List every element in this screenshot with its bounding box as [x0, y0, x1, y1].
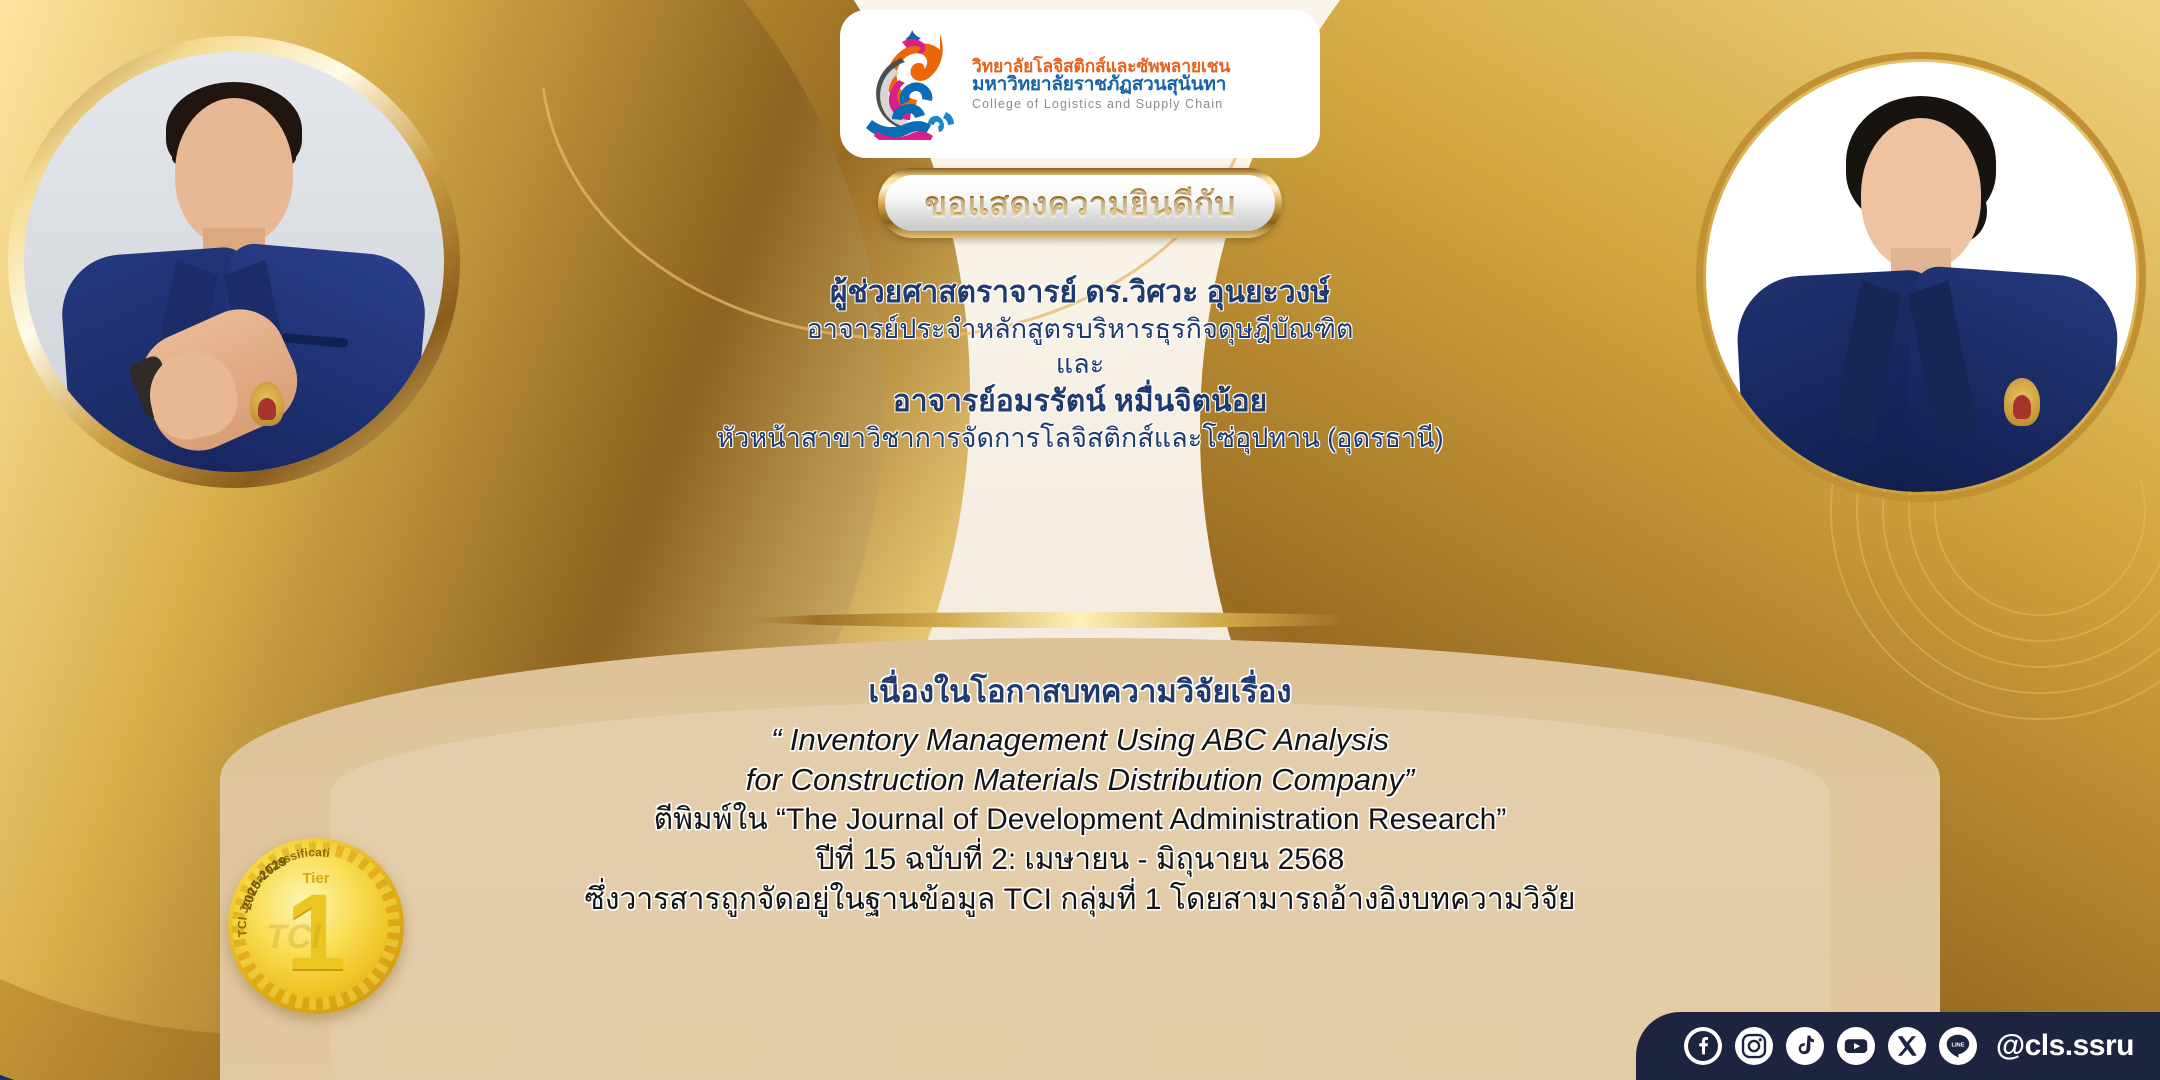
journal-index-line: ซึ่งวารสารถูกจัดอยู่ในฐานข้อมูล TCI กลุ่…: [330, 880, 1830, 920]
honoree-1-title: อาจารย์ประจำหลักสูตรบริหารธุรกิจดุษฎีบัณ…: [540, 312, 1620, 347]
social-handle: @cls.ssru: [1996, 1029, 2134, 1063]
logo-thai-line-1: วิทยาลัยโลจิสติกส์และซัพพลายเชน: [972, 57, 1230, 76]
publication-occasion: เนื่องในโอกาสบทความวิจัยเรื่อง: [330, 672, 1830, 712]
honoree-2-name: อาจารย์อมรรัตน์ หมื่นจิตน้อย: [540, 383, 1620, 421]
line-icon[interactable]: LINE: [1939, 1027, 1977, 1065]
honorees-conjunction: และ: [540, 347, 1620, 382]
ssru-logo-icon: [854, 28, 962, 140]
gold-divider: [750, 612, 1410, 628]
honoree-1-name: ผู้ช่วยศาสตราจารย์ ดร.วิศวะ อุนยะวงษ์: [540, 274, 1620, 312]
medal-arc-main: TCI Journal Classification: [228, 838, 331, 938]
x-twitter-icon[interactable]: [1888, 1027, 1926, 1065]
portrait-right-image: [1706, 62, 2136, 492]
article-title-line-1: “ Inventory Management Using ABC Analysi…: [330, 720, 1830, 760]
tci-tier-1-medal: TCI Tier 1 TCI Journal Classification 20…: [228, 838, 404, 1014]
medal-arc-years: 2025-2029: [239, 853, 289, 911]
portrait-left-image: [24, 52, 444, 472]
tiktok-icon[interactable]: [1786, 1027, 1824, 1065]
article-title-line-2: for Construction Materials Distribution …: [330, 760, 1830, 800]
facebook-icon[interactable]: [1684, 1027, 1722, 1065]
svg-text:TCI Journal Classification: TCI Journal Classification: [228, 838, 331, 938]
logo-english-line: College of Logistics and Supply Chain: [972, 98, 1230, 111]
university-logo-card: วิทยาลัยโลจิสติกส์และซัพพลายเชน มหาวิทยา…: [840, 10, 1320, 158]
portrait-right: [1706, 62, 2136, 492]
svg-text:2025-2029: 2025-2029: [239, 853, 289, 911]
journal-issue-line: ปีที่ 15 ฉบับที่ 2: เมษายน - มิถุนายน 25…: [330, 840, 1830, 880]
honoree-2-title: หัวหน้าสาขาวิชาการจัดการโลจิสติกส์และโซ่…: [540, 421, 1620, 456]
congratulations-banner-text: ขอแสดงความยินดีกับ: [925, 177, 1236, 230]
poster-canvas: วิทยาลัยโลจิสติกส์และซัพพลายเชน มหาวิทยา…: [0, 0, 2160, 1080]
svg-text:LINE: LINE: [1951, 1043, 1964, 1049]
portrait-left: [24, 52, 444, 472]
social-footer-bar: LINE @cls.ssru: [1636, 1012, 2160, 1080]
honorees-block: ผู้ช่วยศาสตราจารย์ ดร.วิศวะ อุนยะวงษ์ อา…: [540, 274, 1620, 456]
instagram-icon[interactable]: [1735, 1027, 1773, 1065]
congratulations-banner: ขอแสดงความยินดีกับ: [878, 168, 1282, 238]
medal-arc-text: TCI Journal Classification 2025-2029: [228, 838, 404, 1014]
youtube-icon[interactable]: [1837, 1027, 1875, 1065]
logo-thai-line-2: มหาวิทยาลัยราชภัฏสวนสุนันทา: [972, 75, 1230, 95]
journal-name-line: ตีพิมพ์ใน “The Journal of Development Ad…: [330, 800, 1830, 840]
publication-block: เนื่องในโอกาสบทความวิจัยเรื่อง “ Invento…: [330, 672, 1830, 920]
